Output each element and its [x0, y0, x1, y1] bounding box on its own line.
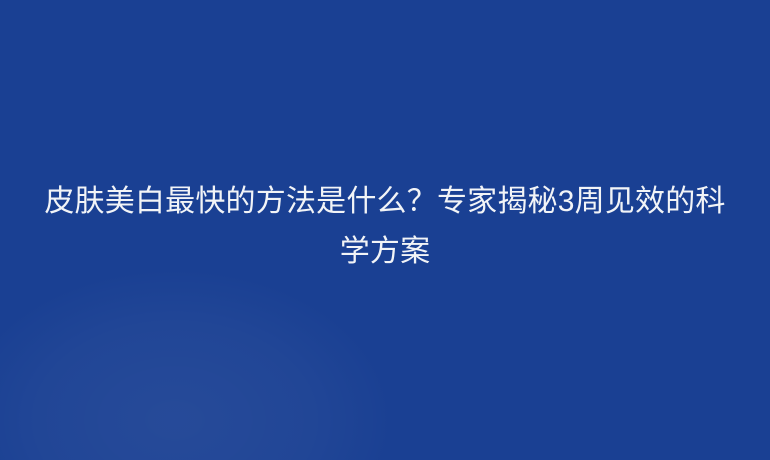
page-title: 皮肤美白最快的方法是什么？专家揭秘3周见效的科学方案: [44, 177, 726, 277]
title-container: 皮肤美白最快的方法是什么？专家揭秘3周见效的科学方案: [0, 0, 770, 460]
article-title-card: 皮肤美白最快的方法是什么？专家揭秘3周见效的科学方案: [0, 0, 770, 460]
